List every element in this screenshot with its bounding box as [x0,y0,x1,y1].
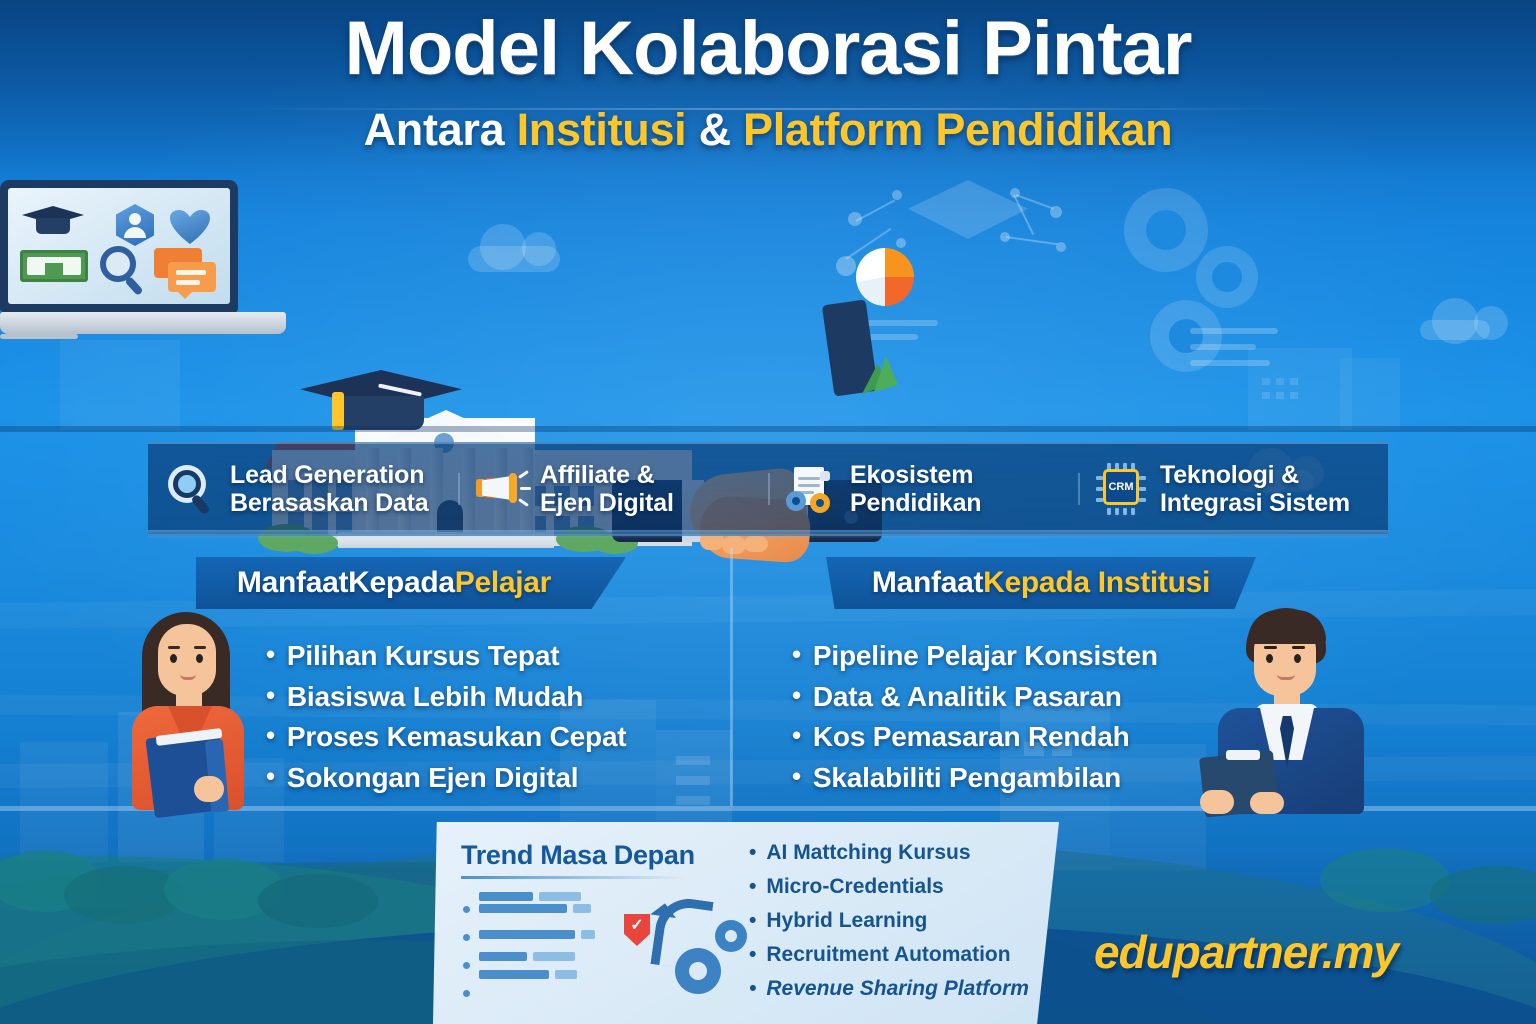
benefits-divider [730,548,733,806]
check-icon: ✓ [630,918,643,934]
bullet-icon: • [749,870,756,904]
doc-line [1190,344,1256,350]
doc-line [1190,328,1278,334]
magnifier-handle [190,494,210,516]
list-item: •AI Mattching Kursus [749,836,1029,870]
list-item: •Hybrid Learning [749,904,1029,938]
subtitle-amp: & [686,104,743,155]
list-item-label: Pipeline Pelajar Konsisten [813,636,1158,677]
bullet-icon: • [792,677,801,715]
gear-icon [715,920,747,952]
banner-prefix: Manfaat [237,566,348,600]
feature-item-ekosistem[interactable]: Ekosistem Pendidikan [768,461,1078,517]
hand [1250,792,1284,814]
feature-label: Lead Generation Berasaskan Data [230,461,429,517]
checklist-bar [479,970,549,979]
benefits-students-list: •Pilihan Kursus Tepat •Biasiswa Lebih Mu… [266,636,626,798]
doc-line [798,484,820,487]
feature-strip: Lead Generation Berasaskan Data Affiliat… [148,442,1388,536]
chip-pin [1139,498,1146,502]
checklist-bar [539,892,581,901]
network-edge [1006,236,1058,245]
heart-icon [170,210,210,244]
subtitle-prefix: Antara [364,104,517,155]
list-item-label: Recruitment Automation [766,938,1010,972]
feature-label: Teknologi & Integrasi Sistem [1160,461,1350,517]
list-item: •Biasiswa Lebih Mudah [266,677,626,718]
feature-item-lead-generation[interactable]: Lead Generation Berasaskan Data [148,461,458,517]
clipboard-clip [1226,750,1260,760]
trend-card-divider [461,876,687,879]
money-icon [20,250,88,282]
chip-label: CRM [1106,472,1136,502]
institution-rep-illustration [1198,604,1378,814]
megaphone-ray [518,470,529,479]
chip-pin [1139,487,1146,491]
graduation-cap-body [336,396,424,430]
benefits-section: Manfaat Kepada Pelajar Manfaat Kepada In… [0,548,1536,830]
list-item-label: Sokongan Ejen Digital [287,758,578,799]
eye [196,654,203,663]
hand [194,776,224,802]
bullet-icon: • [266,717,275,755]
bullet-icon: • [266,758,275,796]
benefits-institutions-list: •Pipeline Pelajar Konsisten •Data & Anal… [792,636,1158,798]
checklist-bar [581,930,595,939]
user-profile-icon [116,204,154,246]
bullet-icon: • [792,636,801,674]
bullet-icon: • [266,677,275,715]
laptop-base [0,312,286,334]
checklist-bar [573,904,591,913]
student-illustration [108,608,268,808]
network-edge [856,199,896,221]
eyebrow [194,646,206,649]
chip-pin [1115,508,1119,515]
list-item-label: Kos Pemasaran Rendah [813,717,1130,758]
checklist-dot [463,990,470,997]
list-item: •Revenue Sharing Platform [749,972,1029,1006]
list-item: •Pilihan Kursus Tepat [266,636,626,677]
checklist-dot [463,962,470,969]
chip-pin [1096,476,1103,480]
checklist-bar [479,892,533,901]
chip-pin [1096,498,1103,502]
ground-line [0,426,1536,432]
checklist-bar [479,930,575,939]
infographic-canvas: Model Kolaborasi Pintar Antara Institusi… [0,0,1536,1024]
list-item: •Proses Kemasukan Cepat [266,717,626,758]
feature-item-affiliate[interactable]: Affiliate & Ejen Digital [458,461,768,517]
megaphone-ray [520,487,531,490]
cloud-icon [1420,320,1490,340]
feature-label: Ekosistem Pendidikan [850,461,981,517]
gear-icon [810,493,830,513]
eyebrow [1292,646,1305,649]
banner-highlight: Pelajar [455,566,551,600]
banner-prefix: Manfaat [872,566,983,600]
avatar-body [124,227,146,238]
chat-line [176,280,200,285]
chip-pin [1139,476,1146,480]
verified-shield-icon: ✓ [624,914,650,946]
face [158,624,216,696]
banner-highlight: Kepada Institusi [983,566,1210,600]
hair-top [1248,610,1326,644]
list-item-label: Biasiswa Lebih Mudah [287,677,583,718]
chip-pin [1107,508,1111,515]
eye [1294,654,1301,663]
doc-line [798,477,820,480]
bullet-icon: • [749,938,756,972]
list-item: •Skalabiliti Pengambilan [792,758,1158,799]
feature-strip-glow [148,530,1388,539]
chat-line [176,270,206,275]
list-item-label: Revenue Sharing Platform [766,972,1029,1006]
banner-mid: Kepada [348,566,455,600]
header-block: Model Kolaborasi Pintar Antara Institusi… [0,8,1536,156]
pie-chart-icon [856,248,914,306]
chip-pin [1096,487,1103,491]
crm-chip-icon: CRM [1096,463,1148,515]
checklist-bar [533,952,575,961]
feature-label: Affiliate & Ejen Digital [540,461,674,517]
eyebrow [168,646,180,649]
list-item: •Recruitment Automation [749,938,1029,972]
chip-pin [1123,508,1127,515]
doc-line [1190,360,1270,366]
megaphone-lip [509,473,517,503]
checklist-dot [463,934,470,941]
title-divider [228,108,1308,110]
magnifier-icon [166,463,218,515]
gear-icon [675,948,721,994]
money-inner [27,257,81,275]
eyebrow [1264,646,1277,649]
trend-list: •AI Mattching Kursus •Micro-Credentials … [749,836,1029,1006]
chip-body: CRM [1103,469,1139,505]
graduation-cap-tassel [332,392,344,430]
page-subtitle: Antara Institusi & Platform Pendidikan [0,104,1536,156]
trend-card-title: Trend Masa Depan [461,840,695,871]
cloud-icon [468,246,560,272]
magnifier-glass [173,470,201,498]
list-item: •Data & Analitik Pasaran [792,677,1158,718]
laptop-trackpad [0,334,78,339]
subtitle-highlight-platform: Platform Pendidikan [743,104,1172,155]
benefits-institutions-banner: Manfaat Kepada Institusi [826,557,1256,609]
list-item-label: Pilihan Kursus Tepat [287,636,559,677]
avatar-head [129,213,141,225]
chip-pin [1131,508,1135,515]
graduation-cap-body [36,218,70,234]
trend-card: Trend Masa Depan ✓ •AI Mattching Kursus … [433,822,1059,1024]
list-item-label: Proses Kemasukan Cepat [287,717,627,758]
eye [1266,654,1273,663]
checklist-bar [479,904,567,913]
gear-icon [786,491,806,511]
search-icon-handle [124,276,143,296]
bullet-icon: • [749,972,756,1006]
list-item-label: Hybrid Learning [766,904,927,938]
chat-bubble-icon [168,262,216,292]
list-item: •Kos Pemasaran Rendah [792,717,1158,758]
feature-item-teknologi[interactable]: CRM Teknologi & Integrasi Sistem [1078,461,1388,517]
checklist-bar [555,970,577,979]
brand-logo[interactable]: edupartner.my [1094,925,1398,979]
list-item-label: Micro-Credentials [766,870,943,904]
checklist-dot [463,906,470,913]
bullet-icon: • [266,636,275,674]
megaphone-ray [518,498,529,507]
hero-illustration [0,180,1536,432]
gear-icon [1124,188,1208,272]
list-item: •Pipeline Pelajar Konsisten [792,636,1158,677]
subtitle-highlight-institusi: Institusi [517,104,687,155]
gear-icon [1196,246,1258,308]
bullet-icon: • [792,717,801,755]
laptop-screen [0,180,238,312]
list-item: •Sokongan Ejen Digital [266,758,626,799]
list-item-label: Skalabiliti Pengambilan [813,758,1121,799]
page-title: Model Kolaborasi Pintar [0,8,1536,90]
network-node [896,238,906,248]
hand [1200,790,1234,814]
benefits-students-banner: Manfaat Kepada Pelajar [196,557,626,609]
document-gears-icon [786,463,838,515]
list-item-label: Data & Analitik Pasaran [813,677,1122,718]
checklist-bar [479,952,527,961]
document-roll [820,471,830,481]
bullet-icon: • [749,904,756,938]
list-item-label: AI Mattching Kursus [766,836,970,870]
megaphone-icon [476,463,528,515]
eye [170,654,177,663]
bullet-icon: • [792,758,801,796]
bullet-icon: • [749,836,756,870]
list-item: •Micro-Credentials [749,870,1029,904]
laptop-screen-content [8,188,230,304]
